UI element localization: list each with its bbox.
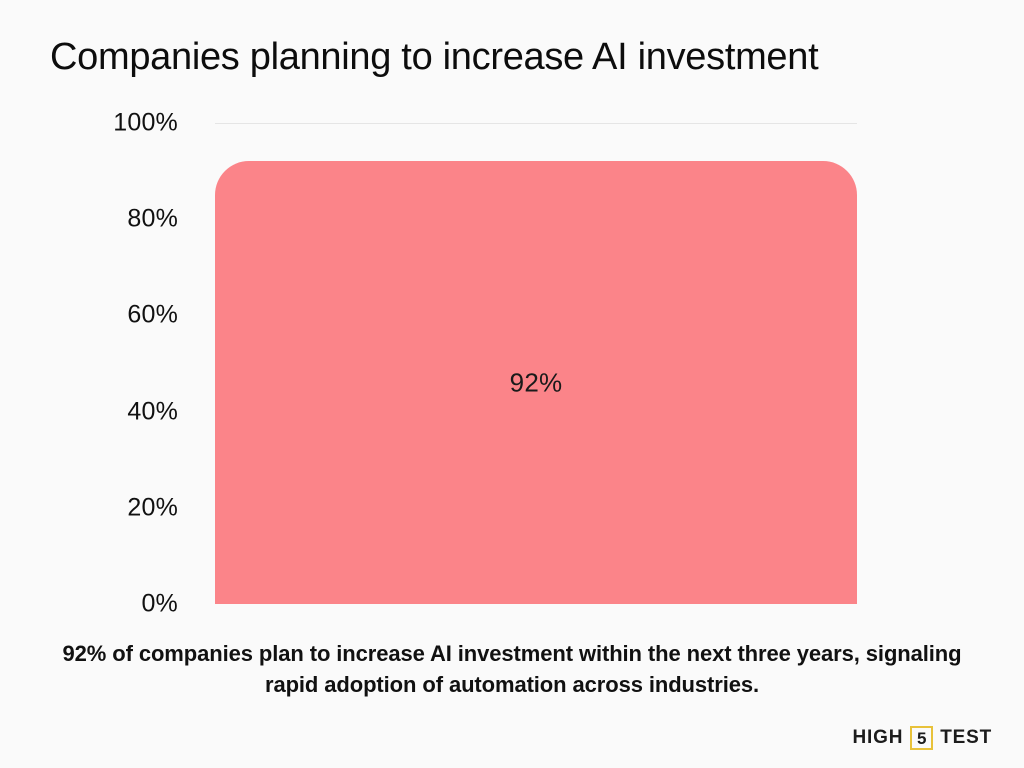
- plot-area: 92%: [215, 123, 857, 604]
- chart-caption: 92% of companies plan to increase AI inv…: [40, 638, 984, 700]
- logo-badge-five: 5: [910, 726, 933, 750]
- y-axis-tick-40: 40%: [10, 397, 200, 426]
- logo-word-test: TEST: [940, 727, 992, 749]
- chart-title: Companies planning to increase AI invest…: [50, 36, 980, 80]
- y-axis-tick-100: 100%: [10, 109, 200, 138]
- logo-word-high: HIGH: [853, 727, 904, 749]
- bar-ai-investment[interactable]: 92%: [215, 161, 857, 604]
- bar-value-label: 92%: [215, 367, 857, 398]
- y-axis-tick-80: 80%: [10, 205, 200, 234]
- gridline-100: [215, 123, 857, 124]
- y-axis: 100%80%60%40%20%0%: [0, 123, 200, 604]
- brand-logo[interactable]: HIGH 5 TEST: [853, 726, 992, 750]
- bar-column: 92%: [215, 161, 857, 604]
- y-axis-tick-20: 20%: [10, 493, 200, 522]
- y-axis-tick-0: 0%: [10, 590, 200, 619]
- y-axis-tick-60: 60%: [10, 301, 200, 330]
